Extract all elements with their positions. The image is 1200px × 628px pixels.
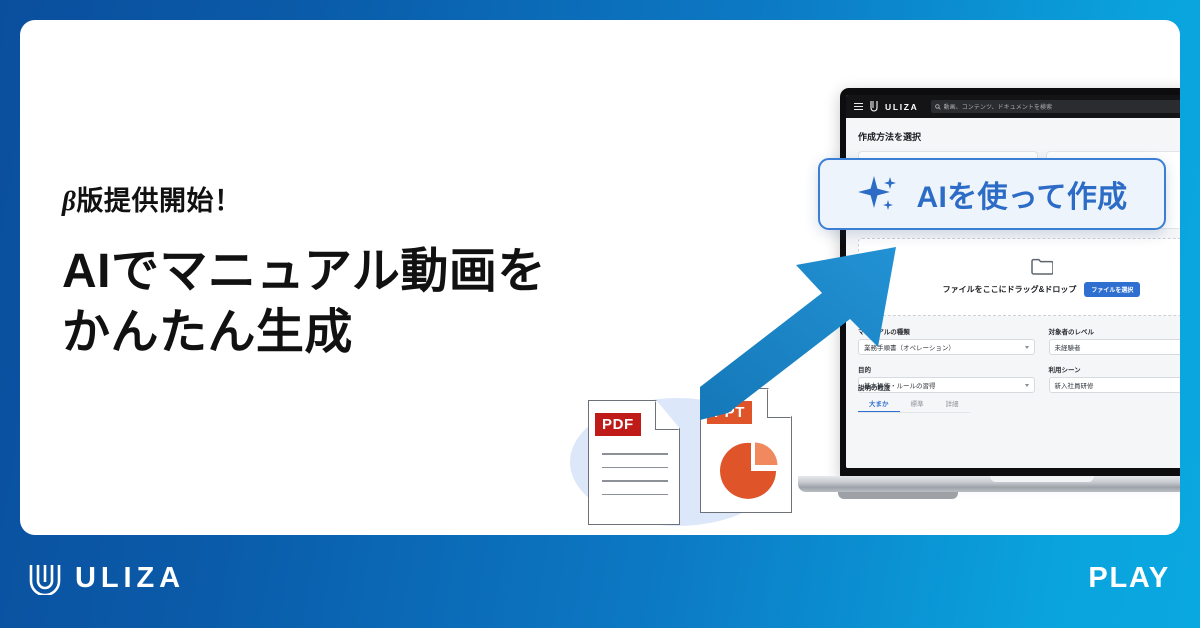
select-use-scene[interactable]: 新入社員研修: [1049, 377, 1181, 393]
panel-title: 作成方法を選択: [858, 130, 921, 143]
eyebrow-text: 版提供開始！: [76, 186, 241, 216]
play-logo: PLAY: [1088, 562, 1170, 595]
headline-block: β版提供開始！ AIでマニュアル動画を かんたん生成: [62, 185, 622, 364]
page-title: AIでマニュアル動画を かんたん生成: [62, 241, 622, 364]
sparkle-icon: [857, 171, 903, 217]
select-value: 未経験者: [1055, 342, 1081, 352]
search-icon: [935, 104, 941, 110]
dropzone-label: ファイルをここにドラッグ&ドロップ: [943, 284, 1077, 295]
select-value: 新入社員研修: [1055, 380, 1094, 390]
hamburger-menu-icon[interactable]: [854, 101, 863, 113]
tab-detailed[interactable]: 詳細: [935, 395, 970, 412]
ai-create-callout[interactable]: AIを使って作成: [818, 158, 1166, 230]
callout-label: AIを使って作成: [917, 172, 1128, 216]
select-audience-level[interactable]: 未経験者: [1049, 339, 1181, 355]
field-label-audience-level: 対象者のレベル: [1049, 326, 1181, 336]
select-file-button[interactable]: ファイルを選択: [1084, 282, 1140, 297]
app-top-bar: ULIZA 動画、コンテンツ、ドキュメントを検索: [846, 95, 1180, 118]
pointer-arrow: [700, 235, 910, 420]
uliza-wordmark: ULIZA: [75, 562, 185, 595]
uliza-logo: ULIZA: [28, 562, 185, 595]
chevron-down-icon: [1025, 384, 1029, 387]
folder-icon: [1031, 258, 1053, 275]
pdf-document-icon: PDF: [588, 400, 680, 525]
field-label-use-scene: 利用シーン: [1049, 364, 1181, 374]
beta-symbol: β: [62, 186, 76, 216]
headline-line-1: AIでマニュアル動画を: [62, 241, 622, 302]
text-lines: [602, 453, 668, 507]
laptop-foot: [838, 492, 958, 499]
uliza-mark-icon: [28, 563, 62, 595]
hero-card: β版提供開始！ AIでマニュアル動画を かんたん生成 PDF PPT: [20, 20, 1180, 535]
headline-line-2: かんたん生成: [62, 302, 622, 363]
pdf-label: PDF: [595, 413, 641, 436]
app-brand-label: ULIZA: [885, 102, 919, 112]
search-input[interactable]: 動画、コンテンツ、ドキュメントを検索: [931, 100, 1180, 113]
eyebrow: β版提供開始！: [62, 185, 622, 219]
chevron-down-icon: [1025, 346, 1029, 349]
laptop-base: [798, 476, 1180, 492]
search-placeholder: 動画、コンテンツ、ドキュメントを検索: [944, 102, 1053, 111]
uliza-mark-icon: [870, 101, 878, 112]
pie-chart-icon: [720, 437, 782, 499]
